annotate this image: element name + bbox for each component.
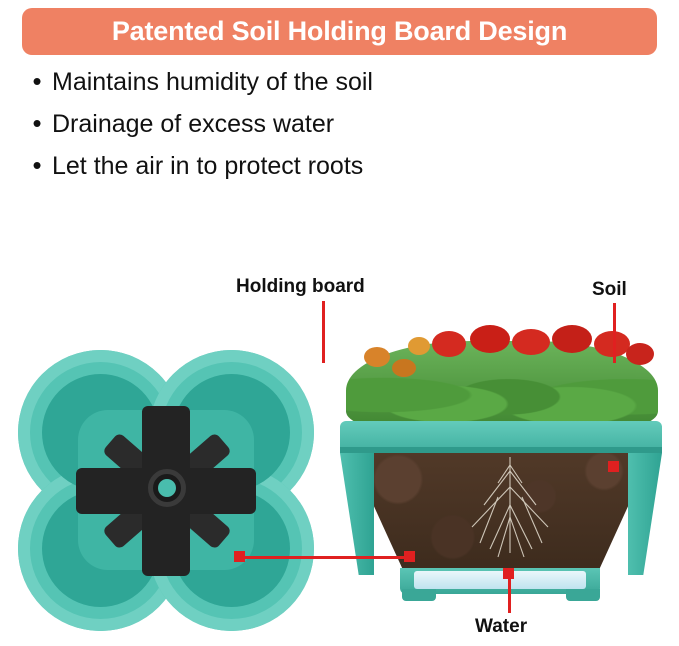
leader-line-board-horizontal [240, 556, 410, 559]
flower-bloom [408, 337, 430, 355]
plant-roots [450, 457, 570, 561]
bullet-dot-icon: • [22, 66, 52, 97]
list-item: • Maintains humidity of the soil [22, 66, 642, 99]
leader-line-water [508, 573, 511, 613]
marker-holding-board-right [404, 551, 415, 562]
list-item: • Drainage of excess water [22, 108, 642, 141]
page-title: Patented Soil Holding Board Design [112, 16, 567, 47]
callout-label-soil: Soil [592, 279, 627, 301]
leader-line-soil [613, 303, 616, 363]
flower-bloom [512, 329, 550, 355]
marker-holding-board-left [234, 551, 245, 562]
bullet-text: Maintains humidity of the soil [52, 66, 373, 99]
flower-bloom [626, 343, 654, 365]
flower-bloom [552, 325, 592, 353]
plant-flowers [346, 303, 658, 428]
planter-foot [566, 589, 600, 601]
holding-board-top-view [76, 406, 256, 576]
planter-top-view [16, 348, 316, 633]
holding-board-drain-hole [158, 479, 176, 497]
water-layer [414, 571, 586, 589]
bullet-dot-icon: • [22, 108, 52, 139]
planter-foot [402, 589, 436, 601]
list-item: • Let the air in to protect roots [22, 150, 642, 183]
flower-bloom [594, 331, 630, 357]
flower-bloom [470, 325, 510, 353]
flower-bloom [364, 347, 390, 367]
bullet-dot-icon: • [22, 150, 52, 181]
bullet-text: Let the air in to protect roots [52, 150, 363, 183]
flower-bloom [392, 359, 416, 377]
header-banner: Patented Soil Holding Board Design [22, 8, 657, 55]
feature-bullet-list: • Maintains humidity of the soil • Drain… [22, 66, 642, 192]
bullet-text: Drainage of excess water [52, 108, 334, 141]
callout-label-water: Water [475, 616, 527, 638]
product-illustration: Holding board Soil Water [0, 243, 679, 646]
flower-bloom [432, 331, 466, 357]
soil-layer [340, 453, 662, 581]
marker-soil [608, 461, 619, 472]
callout-label-holding-board: Holding board [236, 276, 365, 298]
marker-water [503, 568, 514, 579]
leader-line-holding-board [322, 301, 325, 363]
